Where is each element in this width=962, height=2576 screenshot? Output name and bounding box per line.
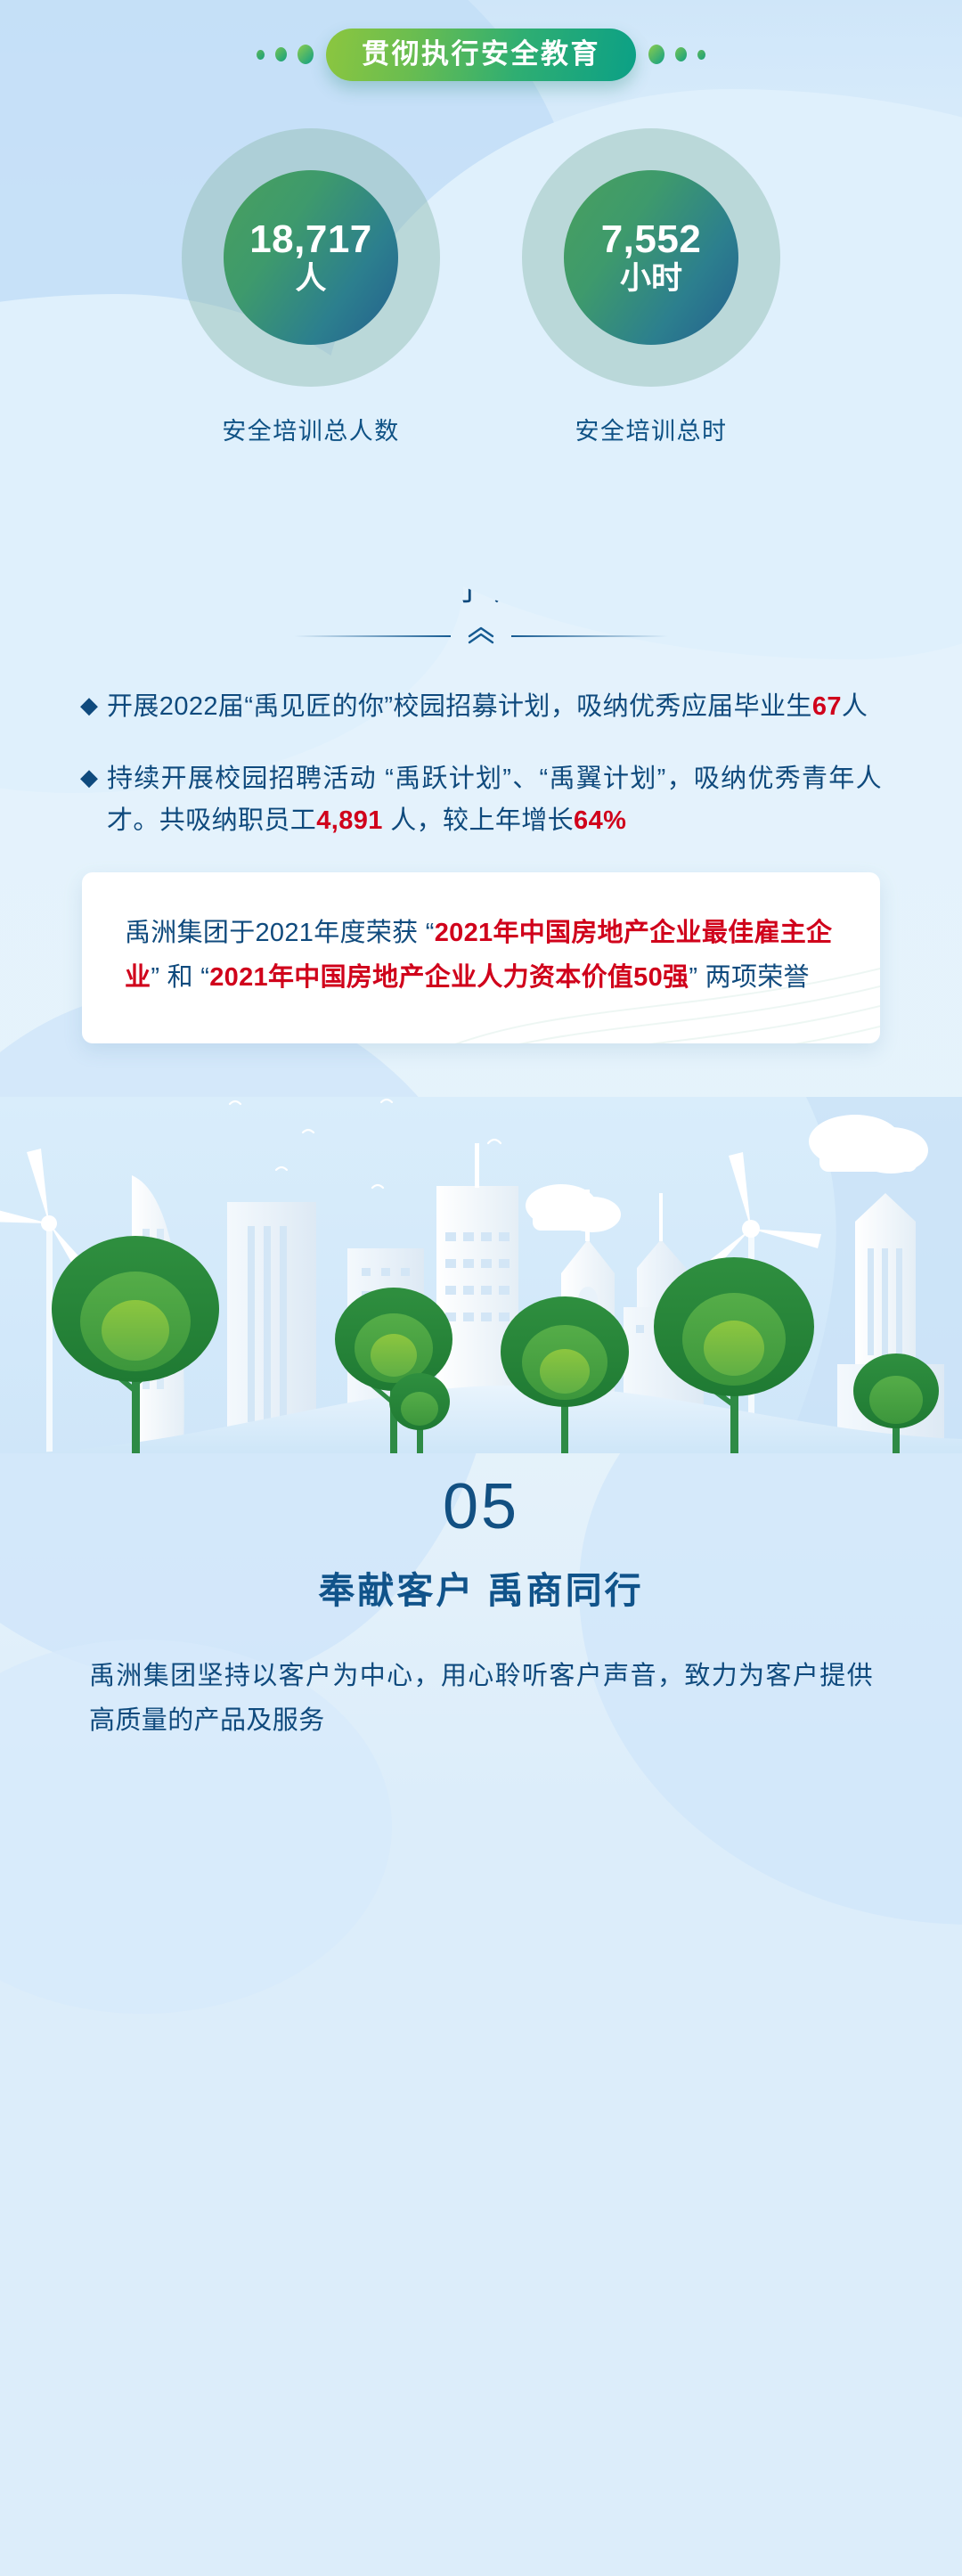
body-text-run: 禹洲集团于2021年度荣获 “ bbox=[125, 919, 435, 947]
bullet-text: 开展2022届“禹见匠的你”校园招募计划，吸纳优秀应届毕业生67人 bbox=[107, 686, 868, 728]
dot-medium-icon bbox=[275, 47, 287, 61]
stat-label: 安全培训总时 bbox=[522, 412, 780, 446]
bullet-text: 持续开展校园招聘活动 “禹跃计划”、“禹翼计划”，吸纳优秀青年人才。共吸纳职员工… bbox=[107, 758, 882, 842]
body-text-run: ” 和 “ bbox=[151, 963, 209, 992]
section-heading: 保障员工福利 吸纳优秀人才 bbox=[0, 561, 962, 609]
award-card: 禹洲集团于2021年度荣获 “2021年中国房地产企业最佳雇主企业” 和 “20… bbox=[82, 872, 880, 1043]
banner-row: 贯彻执行安全教育 bbox=[0, 27, 962, 82]
dot-medium-icon bbox=[675, 47, 687, 61]
body-text-run: 人 bbox=[842, 692, 868, 721]
city-skyline-svg bbox=[0, 1097, 962, 1453]
dot-small-icon bbox=[697, 50, 705, 60]
banner-title: 贯彻执行安全教育 bbox=[362, 40, 600, 68]
stat-unit: 人 bbox=[295, 262, 326, 297]
stat-halo: 18,717 人 bbox=[182, 128, 440, 387]
body-text-run: 人，较上年增长 bbox=[383, 806, 574, 835]
chapter-number: 05 bbox=[0, 1475, 962, 1539]
chevron-up-icon bbox=[466, 626, 496, 645]
diamond-bullet-icon: ◆ bbox=[80, 686, 98, 724]
infographic-page: 贯彻执行安全教育 18,717 人 安全培训总人数 7,552 小时 bbox=[0, 0, 962, 2576]
chapter-title: 奉献客户 禹商同行 bbox=[0, 1560, 962, 1614]
decorative-dots-right bbox=[648, 45, 705, 64]
stat-orb: 18,717 人 bbox=[224, 170, 398, 345]
decorative-dots-left bbox=[257, 45, 314, 64]
section-banner: 贯彻执行安全教育 bbox=[326, 29, 636, 81]
list-item: ◆ 开展2022届“禹见匠的你”校园招募计划，吸纳优秀应届毕业生67人 bbox=[80, 686, 882, 728]
highlighted-figure: 2021年中国房地产企业人力资本价值50强 bbox=[209, 963, 689, 992]
body-text-run: 开展2022届“禹见匠的你”校园招募计划，吸纳优秀应届毕业生 bbox=[107, 692, 812, 721]
stat-orb: 7,552 小时 bbox=[564, 170, 738, 345]
highlighted-figure: 64% bbox=[574, 806, 626, 835]
stat-unit: 小时 bbox=[620, 262, 682, 297]
list-item: ◆ 持续开展校园招聘活动 “禹跃计划”、“禹翼计划”，吸纳优秀青年人才。共吸纳职… bbox=[80, 758, 882, 842]
bullet-list: ◆ 开展2022届“禹见匠的你”校园招募计划，吸纳优秀应届毕业生67人 ◆ 持续… bbox=[80, 686, 882, 842]
dot-large-icon bbox=[648, 45, 664, 64]
chapter-block: 05 奉献客户 禹商同行 禹洲集团坚持以客户为中心，用心聆听客户声音，致力为客户… bbox=[0, 1475, 962, 1744]
stat-label: 安全培训总人数 bbox=[182, 412, 440, 446]
dotted-divider bbox=[294, 502, 668, 506]
divider-line-right bbox=[511, 635, 668, 637]
stat-card: 18,717 人 安全培训总人数 bbox=[182, 128, 440, 446]
divider-line-left bbox=[294, 635, 451, 637]
eco-city-illustration bbox=[0, 1097, 962, 1453]
stat-card: 7,552 小时 安全培训总时 bbox=[522, 128, 780, 446]
chevron-divider bbox=[294, 626, 668, 645]
stat-value: 7,552 bbox=[601, 219, 702, 260]
dot-small-icon bbox=[257, 50, 265, 60]
stat-halo: 7,552 小时 bbox=[522, 128, 780, 387]
highlighted-figure: 67 bbox=[812, 692, 842, 721]
chapter-description: 禹洲集团坚持以客户为中心，用心聆听客户声音，致力为客户提供高质量的产品及服务 bbox=[89, 1655, 873, 1744]
stat-value: 18,717 bbox=[249, 219, 372, 260]
highlighted-figure: 4,891 bbox=[316, 806, 383, 835]
dot-large-icon bbox=[298, 45, 314, 64]
stats-row: 18,717 人 安全培训总人数 7,552 小时 安全培训总时 bbox=[0, 128, 962, 446]
award-card-text: 禹洲集团于2021年度荣获 “2021年中国房地产企业最佳雇主企业” 和 “20… bbox=[125, 912, 837, 1001]
body-text-run: ” 两项荣誉 bbox=[689, 963, 810, 992]
diamond-bullet-icon: ◆ bbox=[80, 758, 98, 796]
